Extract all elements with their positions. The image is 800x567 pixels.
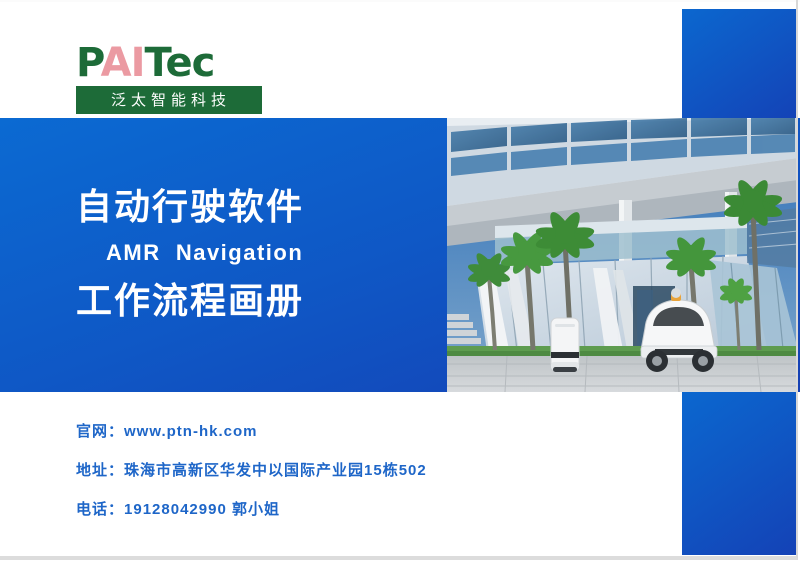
hero-text-block: 自动行驶软件 AMR Navigation 工作流程画册 [76, 186, 436, 322]
logo-wordmark-ai: AI [101, 40, 145, 86]
logo-subtitle-cn: 泛太智能科技 [76, 86, 262, 114]
accent-block-bottom-right [682, 392, 798, 555]
contact-line-phone: 电话：19128042990 郭小姐 [76, 498, 596, 519]
contact-label-website: 官网： [76, 423, 124, 440]
logo-wordmark: PAITec [76, 42, 264, 84]
logo-wordmark-tec: Tec [145, 40, 215, 86]
contact-value-website[interactable]: www.ptn-hk.com [124, 423, 257, 440]
logo-wordmark-p: P [76, 40, 101, 86]
contact-label-phone: 电话： [76, 501, 124, 518]
cover-photo-illustration [447, 118, 798, 392]
contact-value-phone: 19128042990 郭小姐 [124, 501, 280, 518]
contact-line-address: 地址：珠海市高新区华发中以国际产业园15栋502 [76, 459, 596, 480]
delivery-robot-shape [551, 318, 579, 372]
cover-photo [447, 118, 798, 392]
hero-title-cn: 自动行驶软件 [76, 186, 436, 228]
hero-subtitle-cn: 工作流程画册 [76, 280, 436, 322]
contact-line-website: 官网：www.ptn-hk.com [76, 420, 596, 441]
page-top-edge [0, 0, 800, 2]
company-logo: PAITec 泛太智能科技 [76, 42, 264, 114]
contact-value-address: 珠海市高新区华发中以国际产业园15栋502 [124, 462, 427, 479]
contact-block: 官网：www.ptn-hk.com 地址：珠海市高新区华发中以国际产业园15栋5… [76, 420, 596, 537]
accent-block-top-right [682, 9, 798, 121]
contact-label-address: 地址： [76, 462, 124, 479]
hero-title-en: AMR Navigation [106, 240, 436, 266]
brochure-cover-page: PAITec 泛太智能科技 [0, 0, 800, 567]
